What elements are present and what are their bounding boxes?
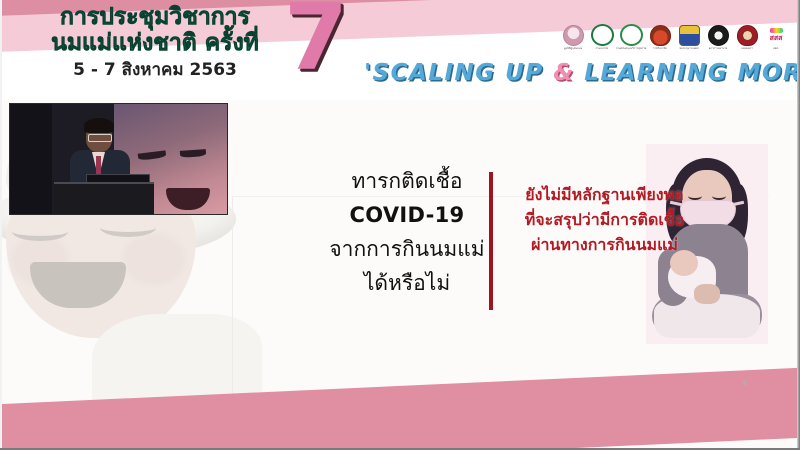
pediatric-society-logo: ชมรมกุมารแพทย์ xyxy=(677,24,701,50)
answer-line-3: ผ่านทางการกินนมแม่ xyxy=(497,232,712,257)
logo-mark xyxy=(563,25,584,46)
logo-mark xyxy=(679,25,700,46)
logo-caption: กรมอนามัย xyxy=(596,47,609,50)
slogan-ampersand: & xyxy=(553,60,575,86)
mother-eye-right xyxy=(712,192,726,200)
nursing-council-logo: สภาการพยาบาล xyxy=(706,24,730,50)
conference-dates: 5 - 7 สิงหาคม 2563 xyxy=(20,59,290,81)
speaker-hair xyxy=(84,118,114,133)
conference-title: การประชุมวิชาการ นมแม่แห่งชาติ ครั้งที่ … xyxy=(20,4,290,81)
logo-caption: กรมสนับสนุนบริการสุขภาพ xyxy=(616,47,647,50)
question-text-block: ทารกติดเชื้อ COVID-19 จากการกินนมแม่ ได้… xyxy=(322,164,492,300)
mother-hand xyxy=(694,284,720,304)
slide-content-area: ทารกติดเชื้อ COVID-19 จากการกินนมแม่ ได้… xyxy=(0,96,800,450)
logo-caption: สสส. xyxy=(773,47,779,50)
answer-text-block: ยังไม่มีหลักฐานเพียงพอ ที่จะสรุปว่ามีการ… xyxy=(497,182,712,257)
page-number: 6 xyxy=(743,379,748,388)
logo-mark xyxy=(591,24,614,46)
conference-title-line-2: นมแม่แห่งชาติ ครั้งที่ xyxy=(20,30,290,57)
logo-mark xyxy=(737,25,758,46)
logo-mark xyxy=(708,25,729,46)
logo-caption: ราชวิทยาลัย xyxy=(653,47,667,50)
thai-breastfeeding-foundation-logo: มูลนิธิศูนย์นมแม่ xyxy=(561,24,585,50)
logo-mark xyxy=(620,24,643,46)
conference-slogan: 'SCALING UP & LEARNING MORE' xyxy=(364,60,800,86)
speaker-tie xyxy=(96,156,101,176)
medical-council-logo: แพทยสภา xyxy=(735,24,759,50)
sponsor-logo-row: มูลนิธิศูนย์นมแม่ กรมอนามัย กรมสนับสนุนบ… xyxy=(561,24,788,50)
vertical-red-divider xyxy=(489,172,493,310)
speaker-glasses-icon xyxy=(88,134,112,142)
question-line-1: ทารกติดเชื้อ xyxy=(322,164,492,198)
thaihealth-sss-logo: สสส. xyxy=(764,24,788,50)
viewer-left-edge xyxy=(0,0,2,450)
royal-emblem-logo: ราชวิทยาลัย xyxy=(648,24,672,50)
logo-caption: สภาการพยาบาล xyxy=(709,47,728,50)
answer-line-1: ยังไม่มีหลักฐานเพียงพอ xyxy=(497,182,712,207)
logo-caption: แพทยสภา xyxy=(741,47,752,50)
department-health-logo: กรมสนับสนุนบริการสุขภาพ xyxy=(619,24,643,50)
conference-header: การประชุมวิชาการ นมแม่แห่งชาติ ครั้งที่ … xyxy=(0,0,800,100)
question-line-2: COVID-19 xyxy=(322,198,492,232)
logo-mark xyxy=(650,25,671,46)
slogan-part-2: LEARNING MORE' xyxy=(575,60,800,86)
speaker-podium xyxy=(54,182,154,214)
child-eye-left xyxy=(12,222,68,241)
speaker-video-overlay[interactable] xyxy=(10,104,227,214)
slogan-part-1: 'SCALING UP xyxy=(364,60,553,86)
child-eye-right xyxy=(100,218,156,237)
presentation-slide: ทารกติดเชื้อ COVID-19 จากการกินนมแม่ ได้… xyxy=(0,0,800,450)
answer-line-2: ที่จะสรุปว่ามีการติดเชื้อ xyxy=(497,207,712,232)
logo-caption: ชมรมกุมารแพทย์ xyxy=(679,47,698,50)
logo-caption: มูลนิธิศูนย์นมแม่ xyxy=(564,47,582,50)
logo-mark xyxy=(767,27,786,46)
conference-title-line-1: การประชุมวิชาการ xyxy=(20,4,290,30)
question-line-4: ได้หรือไม่ xyxy=(322,266,492,300)
child-cheek-right xyxy=(122,232,186,286)
ministry-public-health-logo: กรมอนามัย xyxy=(590,24,614,50)
question-line-3: จากการกินนมแม่ xyxy=(322,232,492,266)
edition-number: 7 xyxy=(284,0,346,84)
